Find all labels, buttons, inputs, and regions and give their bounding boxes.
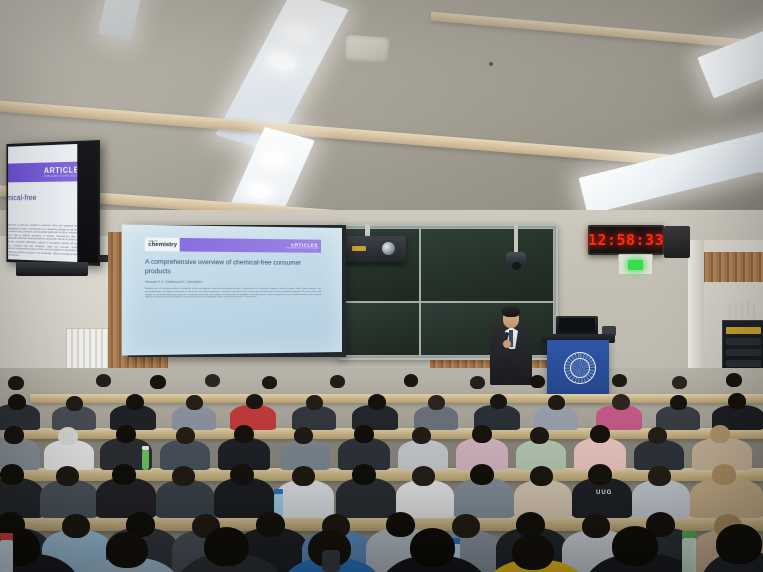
monitor-screen: ARTICLES PUBLISHED ONLINE: DOI 10.1038 o… xyxy=(8,144,77,262)
camera-mount xyxy=(514,224,518,254)
status-led-icon xyxy=(628,260,643,270)
slide-header: nature chemistry ARTICLES PUBLISHED ONLI… xyxy=(145,238,321,253)
presenter-hand xyxy=(503,340,511,348)
monitor-section-sublabel: PUBLISHED ONLINE: DOI 10.1038 xyxy=(44,174,77,178)
articles-banner: ARTICLES PUBLISHED ONLINE: DOI 10.1038 xyxy=(180,238,321,253)
chalkboard-panel xyxy=(420,228,554,302)
ceiling-sensor-icon xyxy=(489,62,493,66)
clock-time: 12:58:33 xyxy=(588,231,664,249)
monitor-bezel xyxy=(77,143,98,263)
journal-logo: nature chemistry xyxy=(145,238,180,252)
audience-shading xyxy=(0,372,763,572)
slide-abstract: Manufacturers of consumer products in pa… xyxy=(145,288,321,300)
journal-name: chemistry xyxy=(148,243,177,249)
slide-authors: Alexander F. G. Goldberg and C. Chemjobb… xyxy=(145,281,321,284)
wall-speaker-icon xyxy=(664,226,690,258)
projection-screen: nature chemistry ARTICLES PUBLISHED ONLI… xyxy=(122,225,342,356)
monitor-title-fragment: of chemical-free xyxy=(8,193,77,202)
wood-slat-panel xyxy=(700,252,763,282)
digital-wall-clock: 12:58:33 xyxy=(588,225,664,255)
chalkboard-panel xyxy=(342,302,420,356)
slide-title: A comprehensive overview of chemical-fre… xyxy=(145,259,321,277)
projector-indicator xyxy=(352,246,366,251)
section-sublabel: PUBLISHED ONLINE: DOI 10.1038 xyxy=(286,248,318,250)
camera-lens-icon xyxy=(512,262,521,270)
slide-content: nature chemistry ARTICLES PUBLISHED ONLI… xyxy=(145,238,321,337)
wall-control-panel[interactable] xyxy=(618,254,653,275)
projector-lens-icon xyxy=(382,242,395,255)
monitor-articles-banner: ARTICLES PUBLISHED ONLINE: DOI 10.1038 xyxy=(8,161,77,182)
projector-icon xyxy=(338,236,406,262)
presenter-hair xyxy=(502,306,520,317)
confidence-monitor: ARTICLES PUBLISHED ONLINE: DOI 10.1038 o… xyxy=(6,140,100,266)
ceiling-vent xyxy=(344,34,390,63)
chalkboard-panel xyxy=(420,302,554,356)
lecture-hall-photo: 12:58:33 nature chemistry xyxy=(0,0,763,572)
podium-monitor-screen xyxy=(559,318,595,332)
monitor-abstract: Manufacturers of consumer products in pa… xyxy=(8,224,77,261)
monitor-base xyxy=(16,262,88,276)
